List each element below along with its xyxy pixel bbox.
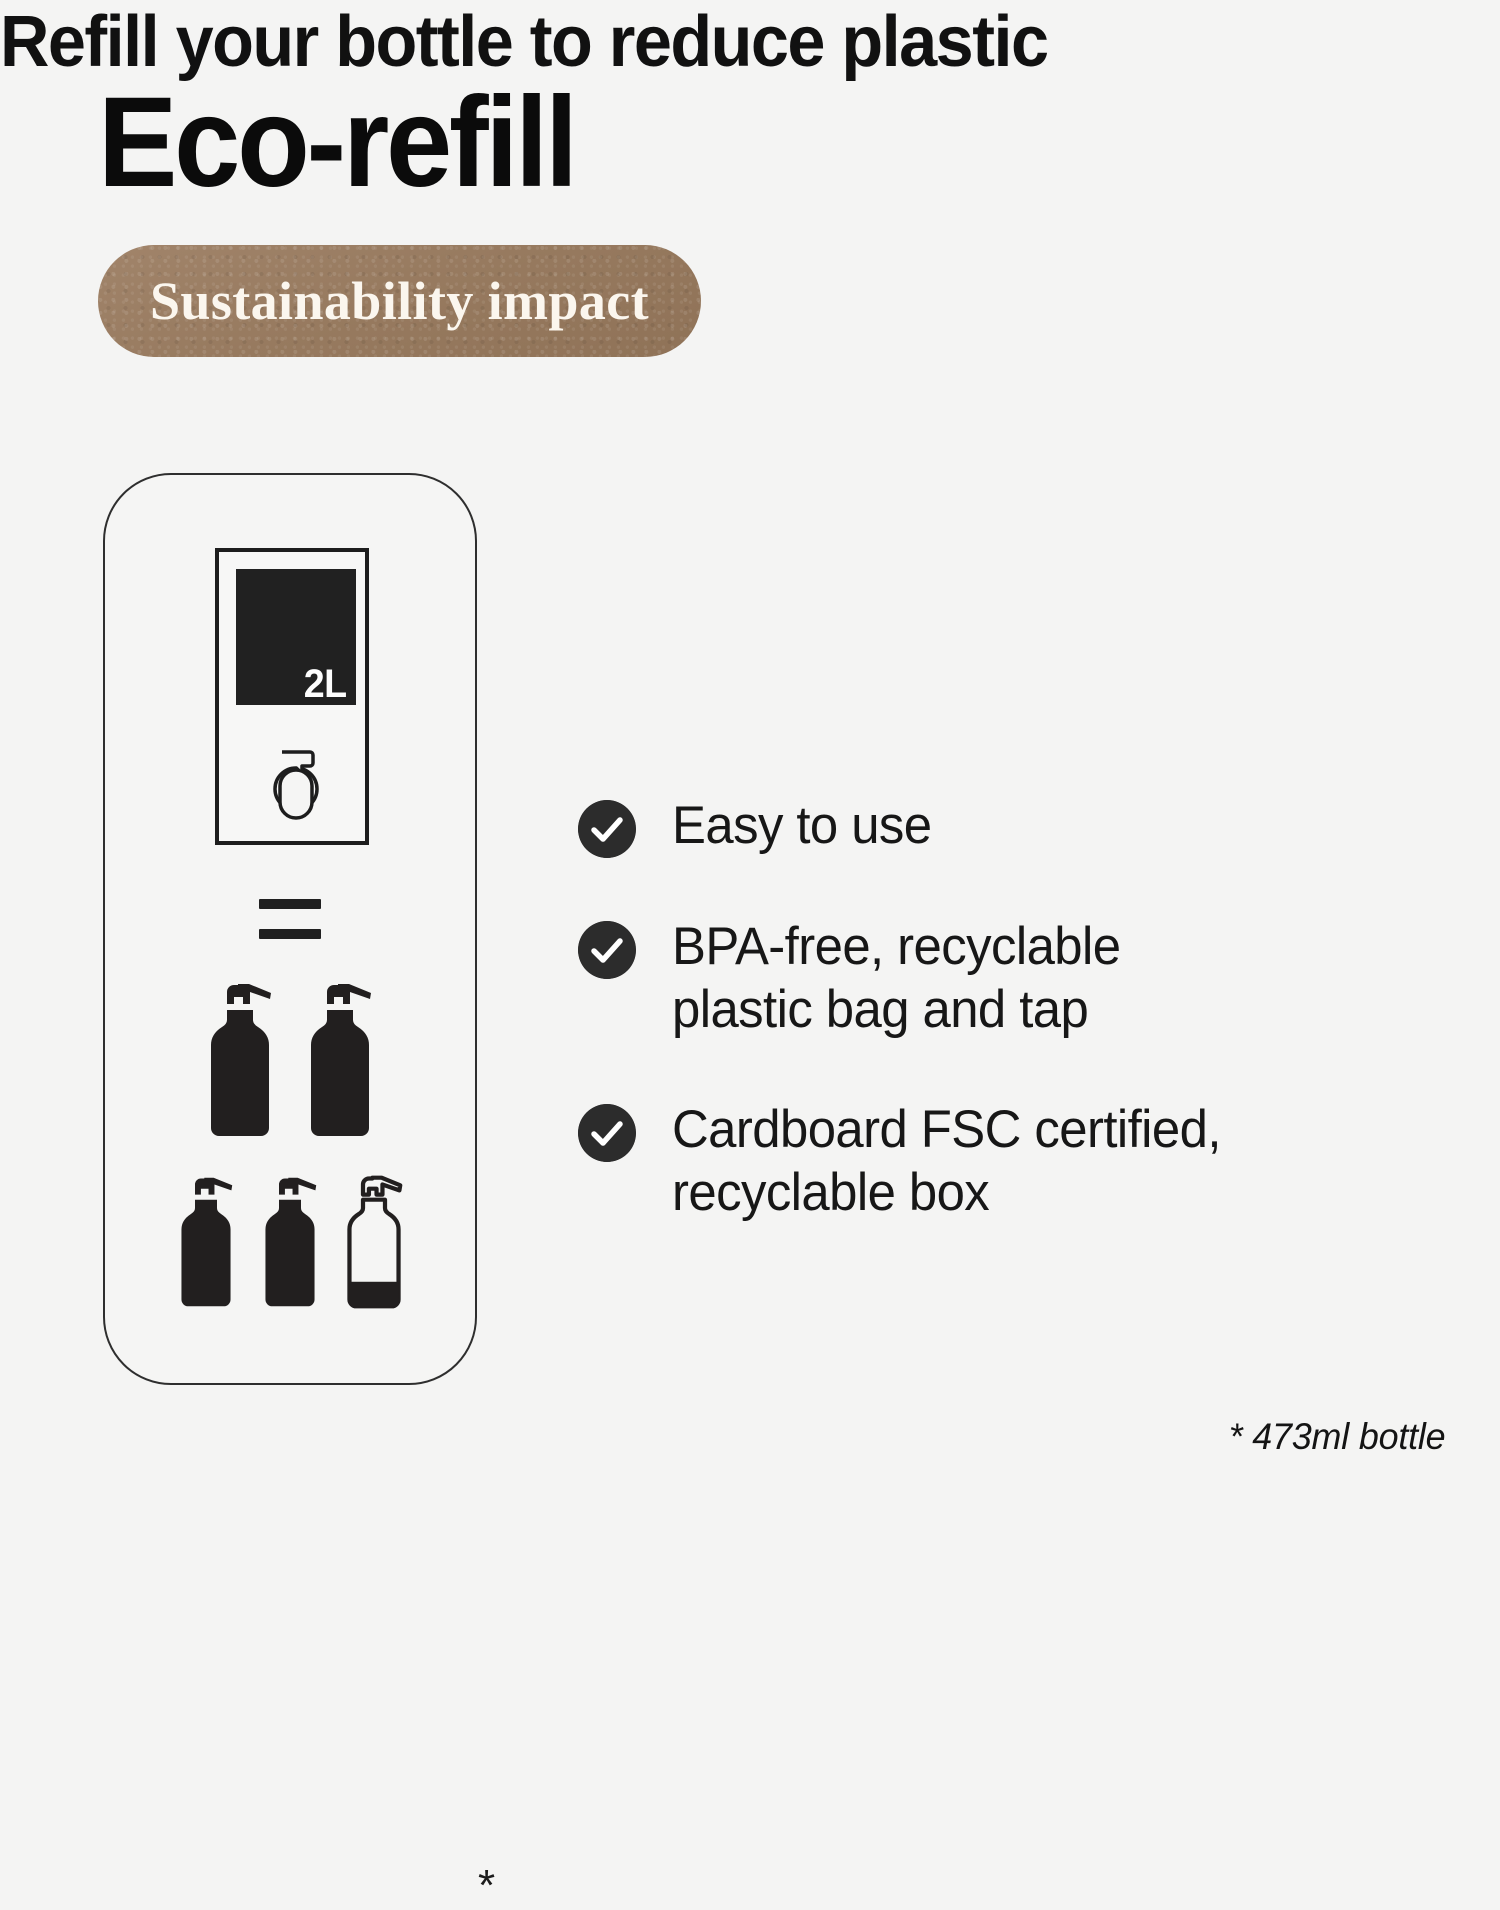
main-heading: Refill your bottle to reduce plastic [0,0,1425,85]
feature-list: Easy to use BPA-free, recyclable plastic… [578,795,1458,1224]
asterisk-marker: * [478,1864,495,1908]
check-circle-icon [578,1104,636,1162]
pump-bottle-icon [301,980,379,1140]
check-circle-icon [578,921,636,979]
pump-bottle-icon [201,980,279,1140]
eco-refill-infographic: Eco-refill Sustainability impact 2L [0,0,1500,1500]
pump-bottle-icon [173,1172,239,1312]
tap-spout-icon [265,742,327,822]
equals-symbol [259,899,321,939]
list-item: Easy to use [578,795,1458,858]
sustainability-impact-badge: Sustainability impact [98,245,701,357]
box-volume-label-area: 2L [236,569,356,705]
equals-bar-top [259,899,321,909]
bottles-row-three: * [173,1172,407,1312]
eco-refill-diagram-panel: 2L [103,473,477,1385]
box-volume-label: 2L [304,664,347,704]
pump-bottle-icon [257,1172,323,1312]
check-circle-icon [578,800,636,858]
page-title: Eco-refill [98,79,575,207]
footnote: * 473ml bottle [1228,1416,1445,1458]
list-item: BPA-free, recyclable plastic bag and tap [578,916,1458,1041]
pump-bottle-icon [341,1172,407,1312]
feature-label: Easy to use [672,795,932,858]
bottles-row-two [201,980,379,1140]
badge-label: Sustainability impact [150,274,649,328]
feature-label: BPA-free, recyclable plastic bag and tap [672,916,1120,1041]
list-item: Cardboard FSC certified, recyclable box [578,1099,1458,1224]
feature-label: Cardboard FSC certified, recyclable box [672,1099,1221,1224]
refill-box-illustration: 2L [215,548,369,845]
equals-bar-bottom [259,929,321,939]
